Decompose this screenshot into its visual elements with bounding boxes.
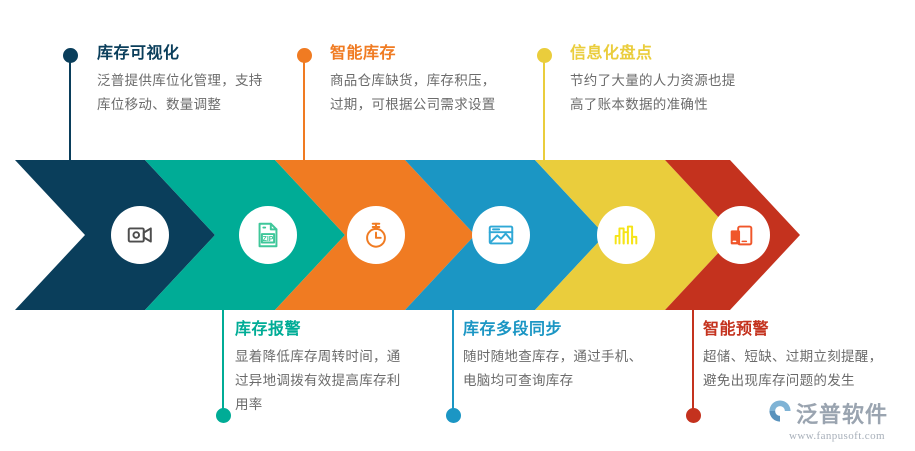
callout-title: 信息化盘点 xyxy=(570,44,785,64)
step-icon-badge-6[interactable] xyxy=(712,206,770,264)
step-icon-badge-1[interactable] xyxy=(111,206,169,264)
callout-text-bottom-3: 智能预警 超储、短缺、过期立刻提醒， 避免出现库存问题的发生 xyxy=(703,320,915,393)
callout-text-top-2: 智能库存 商品仓库缺货，库存积压， 过期，可根据公司需求设置 xyxy=(330,44,545,117)
brand-url: www.fanpusoft.com xyxy=(767,430,907,442)
step-icon-badge-3[interactable] xyxy=(347,206,405,264)
callout-body: 超储、短缺、过期立刻提醒， 避免出现库存问题的发生 xyxy=(703,345,915,393)
callout-dot-bottom-3 xyxy=(686,408,701,423)
brand-name: 泛普软件 xyxy=(796,397,888,429)
callout-title: 库存多段同步 xyxy=(463,320,688,340)
callout-dot-bottom-2 xyxy=(446,408,461,423)
bar-chart-icon xyxy=(611,220,641,250)
callout-dot-bottom-1 xyxy=(216,408,231,423)
fanpu-swirl-icon xyxy=(767,398,793,429)
callout-title: 智能预警 xyxy=(703,320,915,340)
callout-stem-top-1 xyxy=(69,56,71,161)
callout-stem-top-2 xyxy=(303,56,305,161)
step-icon-badge-2[interactable]: ZIP xyxy=(239,206,297,264)
callout-title: 智能库存 xyxy=(330,44,545,64)
callout-stem-bottom-2 xyxy=(452,310,454,415)
step-icon-badge-4[interactable] xyxy=(472,206,530,264)
callout-stem-bottom-1 xyxy=(222,310,224,415)
callout-title: 库存可视化 xyxy=(97,44,307,64)
callout-body: 商品仓库缺货，库存积压， 过期，可根据公司需求设置 xyxy=(330,69,545,117)
step-icon-badge-5[interactable] xyxy=(597,206,655,264)
callout-body: 节约了大量的人力资源也提 高了账本数据的准确性 xyxy=(570,69,785,117)
infographic-canvas: ZIP xyxy=(0,0,915,451)
svg-text:ZIP: ZIP xyxy=(263,236,274,243)
callout-text-top-3: 信息化盘点 节约了大量的人力资源也提 高了账本数据的准确性 xyxy=(570,44,785,117)
callout-stem-bottom-3 xyxy=(692,310,694,415)
callout-text-top-1: 库存可视化 泛普提供库位化管理，支持 库位移动、数量调整 xyxy=(97,44,307,117)
callout-text-bottom-2: 库存多段同步 随时随地查库存，通过手机、 电脑均可查询库存 xyxy=(463,320,688,393)
callout-stem-top-3 xyxy=(543,56,545,161)
callout-body: 显着降低库存周转时间，通 过异地调拨有效提高库存利 用率 xyxy=(235,345,445,417)
callout-body: 随时随地查库存，通过手机、 电脑均可查询库存 xyxy=(463,345,688,393)
image-window-icon xyxy=(486,220,516,250)
zip-file-icon: ZIP xyxy=(253,220,283,250)
callout-title: 库存报警 xyxy=(235,320,445,340)
brand-logo[interactable]: 泛普软件 www.fanpusoft.com xyxy=(767,397,907,445)
stopwatch-icon xyxy=(361,220,391,250)
video-camera-icon xyxy=(125,220,155,250)
callout-body: 泛普提供库位化管理，支持 库位移动、数量调整 xyxy=(97,69,307,117)
devices-icon xyxy=(726,220,756,250)
callout-text-bottom-1: 库存报警 显着降低库存周转时间，通 过异地调拨有效提高库存利 用率 xyxy=(235,320,445,417)
